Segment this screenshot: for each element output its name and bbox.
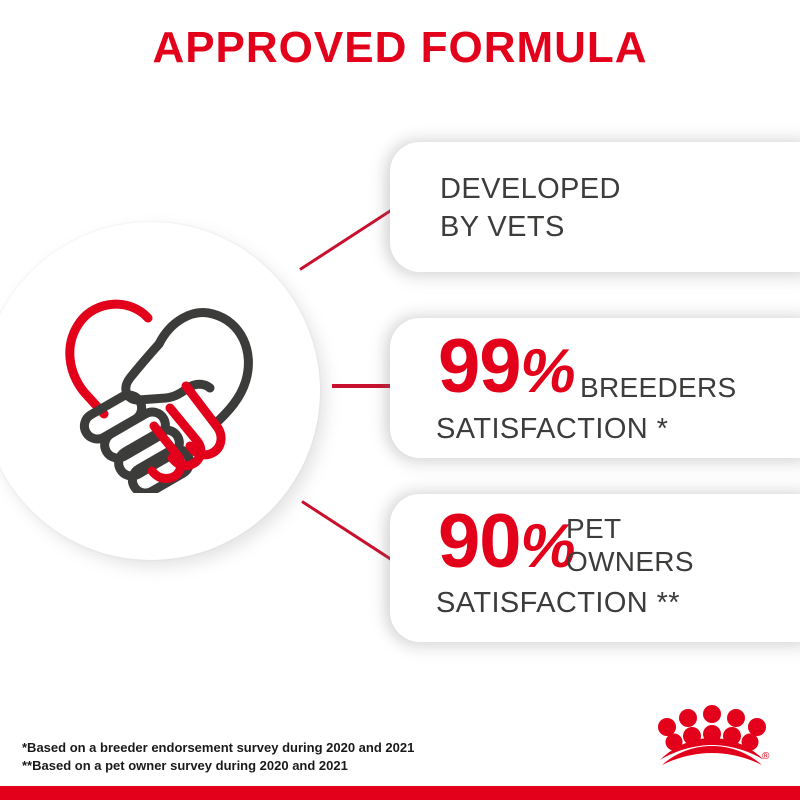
royal-canin-crown-logo: ® — [648, 700, 778, 770]
registered-mark: ® — [762, 751, 770, 762]
pet-owners-label-line-1: PET — [566, 513, 621, 544]
bottom-red-bar — [0, 786, 800, 800]
footnote-breeder-survey: *Based on a breeder endorsement survey d… — [22, 740, 414, 755]
pet-owners-percent-number: 90 — [438, 499, 521, 584]
pet-owners-label: PETOWNERS — [566, 512, 694, 578]
pet-owners-percent-value: 90% — [438, 504, 575, 585]
breeders-percent-value: 99% — [438, 329, 575, 410]
connector-line-bottom — [301, 500, 403, 568]
breeders-label: BREEDERS — [580, 371, 736, 404]
approved-formula-poster: APPROVED FORMULA — [0, 0, 800, 800]
pet-owners-satisfaction-text: SATISFACTION ** — [436, 586, 680, 620]
breeders-percent-number: 99 — [438, 324, 521, 409]
developed-by-vets-line-2: BY VETS — [440, 208, 565, 246]
pet-owners-label-line-2: OWNERS — [566, 546, 694, 577]
handshake-heart-icon — [58, 288, 278, 493]
breeders-satisfaction-text: SATISFACTION * — [436, 412, 668, 446]
breeders-percent-symbol: % — [515, 334, 581, 410]
connector-line-top — [299, 204, 400, 271]
page-title: APPROVED FORMULA — [0, 26, 800, 70]
developed-by-vets-line-1: DEVELOPED — [440, 170, 621, 208]
footnote-pet-owner-survey: **Based on a pet owner survey during 202… — [22, 758, 348, 773]
